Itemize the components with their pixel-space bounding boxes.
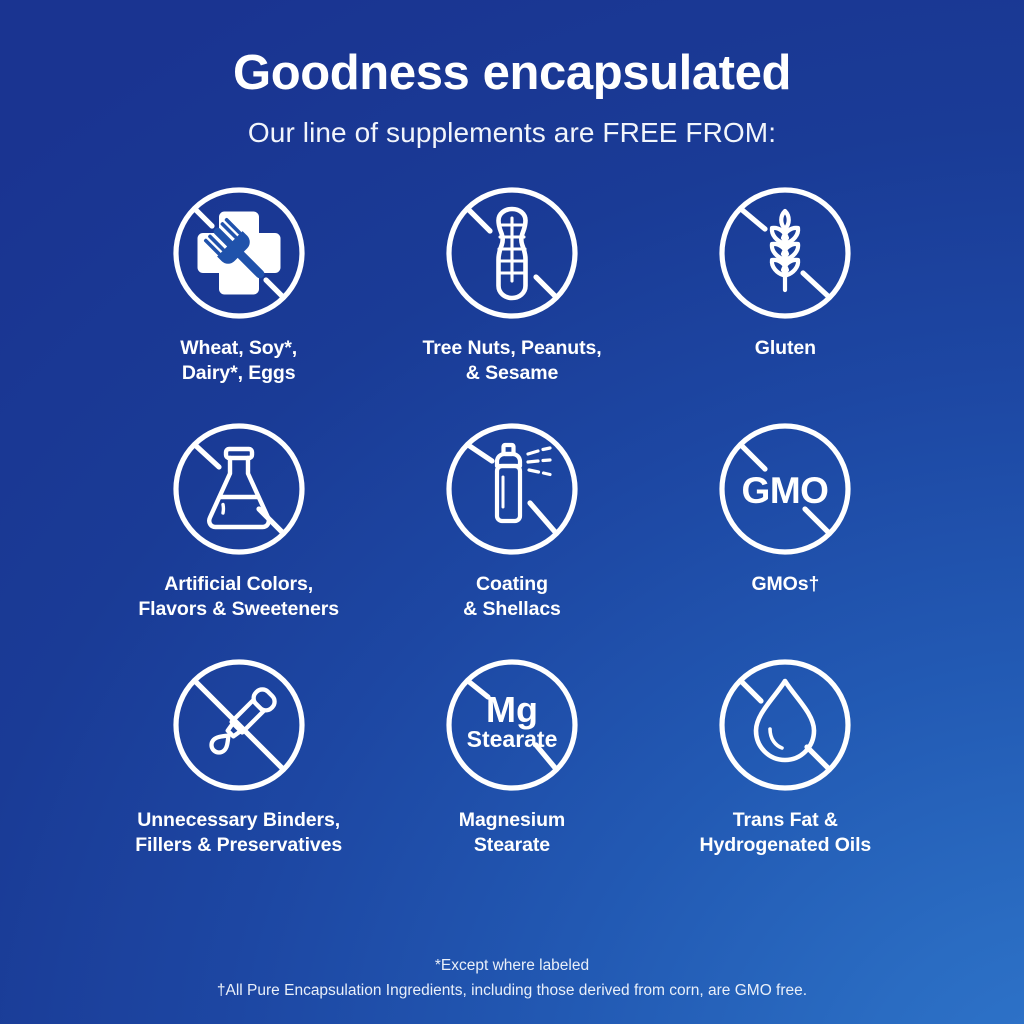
free-from-grid: Wheat, Soy*, Dairy*, Eggs [102,185,922,893]
no-dropper-icon [171,657,307,793]
grid-item-tree-nuts: Tree Nuts, Peanuts, & Sesame [375,185,648,421]
grid-item-label: Wheat, Soy*, Dairy*, Eggs [180,336,297,386]
grid-item-binders: Unnecessary Binders, Fillers & Preservat… [102,657,375,893]
grid-item-label: GMOs† [751,572,819,597]
grid-item-label: Trans Fat & Hydrogenated Oils [699,808,871,858]
grid-item-magnesium-stearate: Mg Stearate Magnesium Stearate [375,657,648,893]
no-flask-icon [171,421,307,557]
no-wheat-stalk-icon [717,185,853,321]
infographic-page: Goodness encapsulated Our line of supple… [0,0,1024,1024]
footnote-dagger: †All Pure Encapsulation Ingredients, inc… [0,979,1024,1002]
grid-item-gluten: Gluten [649,185,922,421]
page-title: Goodness encapsulated [0,48,1024,100]
footnote-asterisk: *Except where labeled [0,954,1024,977]
no-cross-fork-icon [171,185,307,321]
mg-symbol-text: Mg [486,689,538,730]
grid-item-label: Tree Nuts, Peanuts, & Sesame [422,336,601,386]
footnotes: *Except where labeled †All Pure Encapsul… [0,954,1024,1003]
page-subtitle: Our line of supplements are FREE FROM: [0,117,1024,149]
no-gmo-icon: GMO [717,421,853,557]
grid-item-label: Artificial Colors, Flavors & Sweeteners [138,572,339,622]
grid-item-label: Magnesium Stearate [459,808,565,858]
no-oil-droplet-icon [717,657,853,793]
grid-item-label: Unnecessary Binders, Fillers & Preservat… [135,808,342,858]
no-peanut-icon [444,185,580,321]
grid-item-label: Coating & Shellacs [463,572,561,622]
stearate-text: Stearate [467,726,558,752]
gmo-inner-text: GMO [742,470,829,511]
no-spray-can-icon [444,421,580,557]
grid-item-coating: Coating & Shellacs [375,421,648,657]
grid-item-artificial-colors: Artificial Colors, Flavors & Sweeteners [102,421,375,657]
grid-item-allergens: Wheat, Soy*, Dairy*, Eggs [102,185,375,421]
grid-item-label: Gluten [755,336,816,361]
grid-item-gmo: GMO GMOs† [649,421,922,657]
grid-item-trans-fat: Trans Fat & Hydrogenated Oils [649,657,922,893]
no-mg-stearate-icon: Mg Stearate [444,657,580,793]
header: Goodness encapsulated Our line of supple… [0,0,1024,149]
